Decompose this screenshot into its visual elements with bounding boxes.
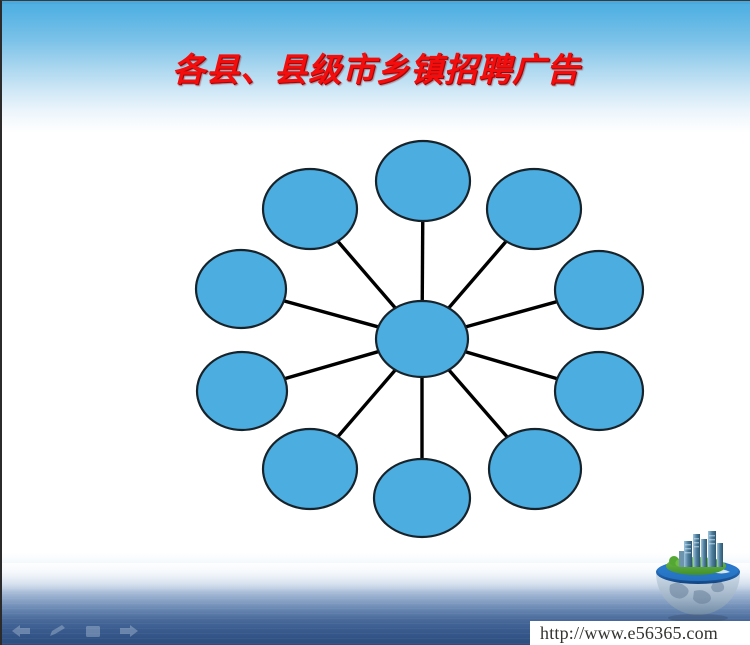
node-bottom[interactable] [374,459,470,537]
watermark-url-bar: http://www.e56365.com [530,621,750,645]
radial-diagram [2,1,750,645]
node-upper-right[interactable] [487,169,581,249]
node-left-upper[interactable] [196,250,286,328]
node-upper-left[interactable] [263,169,357,249]
pen-icon [46,623,68,639]
slideshow-controls [10,623,140,639]
pen-tool-button[interactable] [46,623,68,639]
center-node[interactable] [376,301,468,377]
previous-slide-button[interactable] [10,623,32,639]
node-top[interactable] [376,141,470,221]
globe-city-logo [648,525,748,625]
node-lower-left[interactable] [263,429,357,509]
menu-square-icon [82,623,104,639]
node-right-upper[interactable] [555,251,643,329]
node-lower-right[interactable] [489,429,581,509]
arrow-left-icon [10,623,32,639]
slide-menu-button[interactable] [82,623,104,639]
next-slide-button[interactable] [118,623,140,639]
presentation-slide: 各县、县级市乡镇招聘广告 [0,0,750,645]
node-left-lower[interactable] [197,352,287,430]
arrow-right-icon [118,623,140,639]
watermark-url-text: http://www.e56365.com [540,623,718,644]
node-right-lower[interactable] [555,352,643,430]
